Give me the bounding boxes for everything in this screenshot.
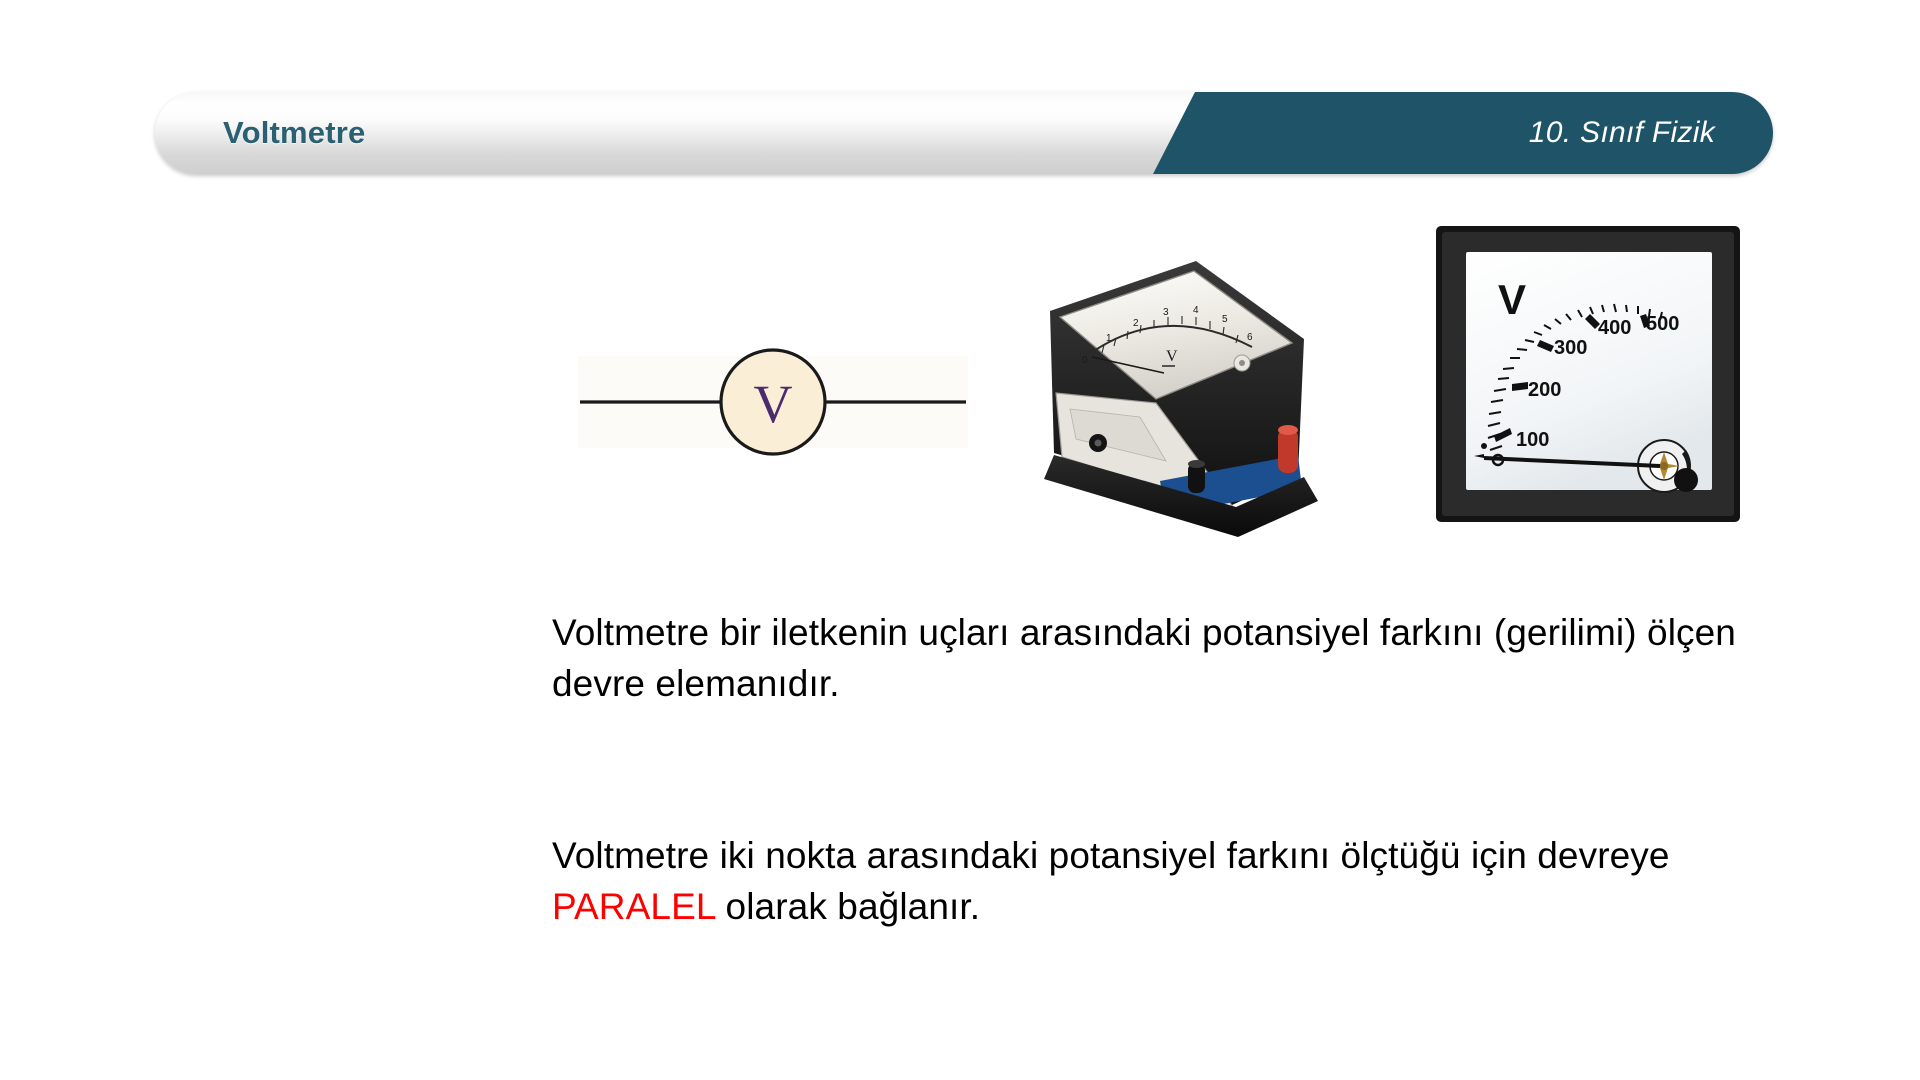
- svg-text:300: 300: [1554, 337, 1587, 359]
- svg-text:V: V: [1498, 276, 1526, 323]
- voltmeter-symbol-icon: V: [578, 348, 968, 458]
- svg-text:3: 3: [1163, 307, 1169, 318]
- bench-voltmeter-illustration: 0 1 2 3 4 5 6 V: [1036, 243, 1326, 548]
- page-title: Voltmetre: [223, 92, 365, 174]
- svg-text:0: 0: [1082, 355, 1088, 366]
- paragraph-definition: Voltmetre bir iletkenin uçları arasındak…: [552, 608, 1772, 709]
- svg-text:4: 4: [1193, 305, 1199, 316]
- course-label: 10. Sınıf Fizik: [1529, 116, 1715, 150]
- header-banner: 10. Sınıf Fizik Voltmetre: [155, 92, 1773, 174]
- circuit-symbol-figure: V: [578, 348, 968, 458]
- svg-text:6: 6: [1247, 332, 1253, 343]
- content-body: Voltmetre bir iletkenin uçları arasındak…: [552, 608, 1772, 933]
- paragraph-connection-lead: Voltmetre iki nokta arasındaki potansiye…: [552, 835, 1670, 876]
- paragraph-connection-tail: olarak bağlanır.: [715, 886, 980, 927]
- svg-text:5: 5: [1222, 314, 1228, 325]
- svg-text:500: 500: [1646, 313, 1679, 335]
- svg-text:2: 2: [1133, 318, 1139, 329]
- panel-voltmeter-photo: V: [1432, 222, 1744, 527]
- svg-text:400: 400: [1598, 317, 1631, 339]
- svg-text:V: V: [754, 374, 793, 434]
- svg-text:V: V: [1166, 348, 1178, 365]
- panel-voltmeter-illustration: V: [1432, 222, 1744, 527]
- svg-text:200: 200: [1528, 379, 1561, 401]
- slide-root: 10. Sınıf Fizik Voltmetre V: [0, 0, 1920, 1080]
- svg-text:100: 100: [1516, 429, 1549, 451]
- keyword-paralel: PARALEL: [552, 886, 715, 927]
- header-accent-panel: 10. Sınıf Fizik: [1153, 92, 1773, 174]
- svg-text:1: 1: [1106, 333, 1112, 344]
- paragraph-connection: Voltmetre iki nokta arasındaki potansiye…: [552, 831, 1772, 932]
- bench-voltmeter-photo: 0 1 2 3 4 5 6 V: [1036, 243, 1326, 548]
